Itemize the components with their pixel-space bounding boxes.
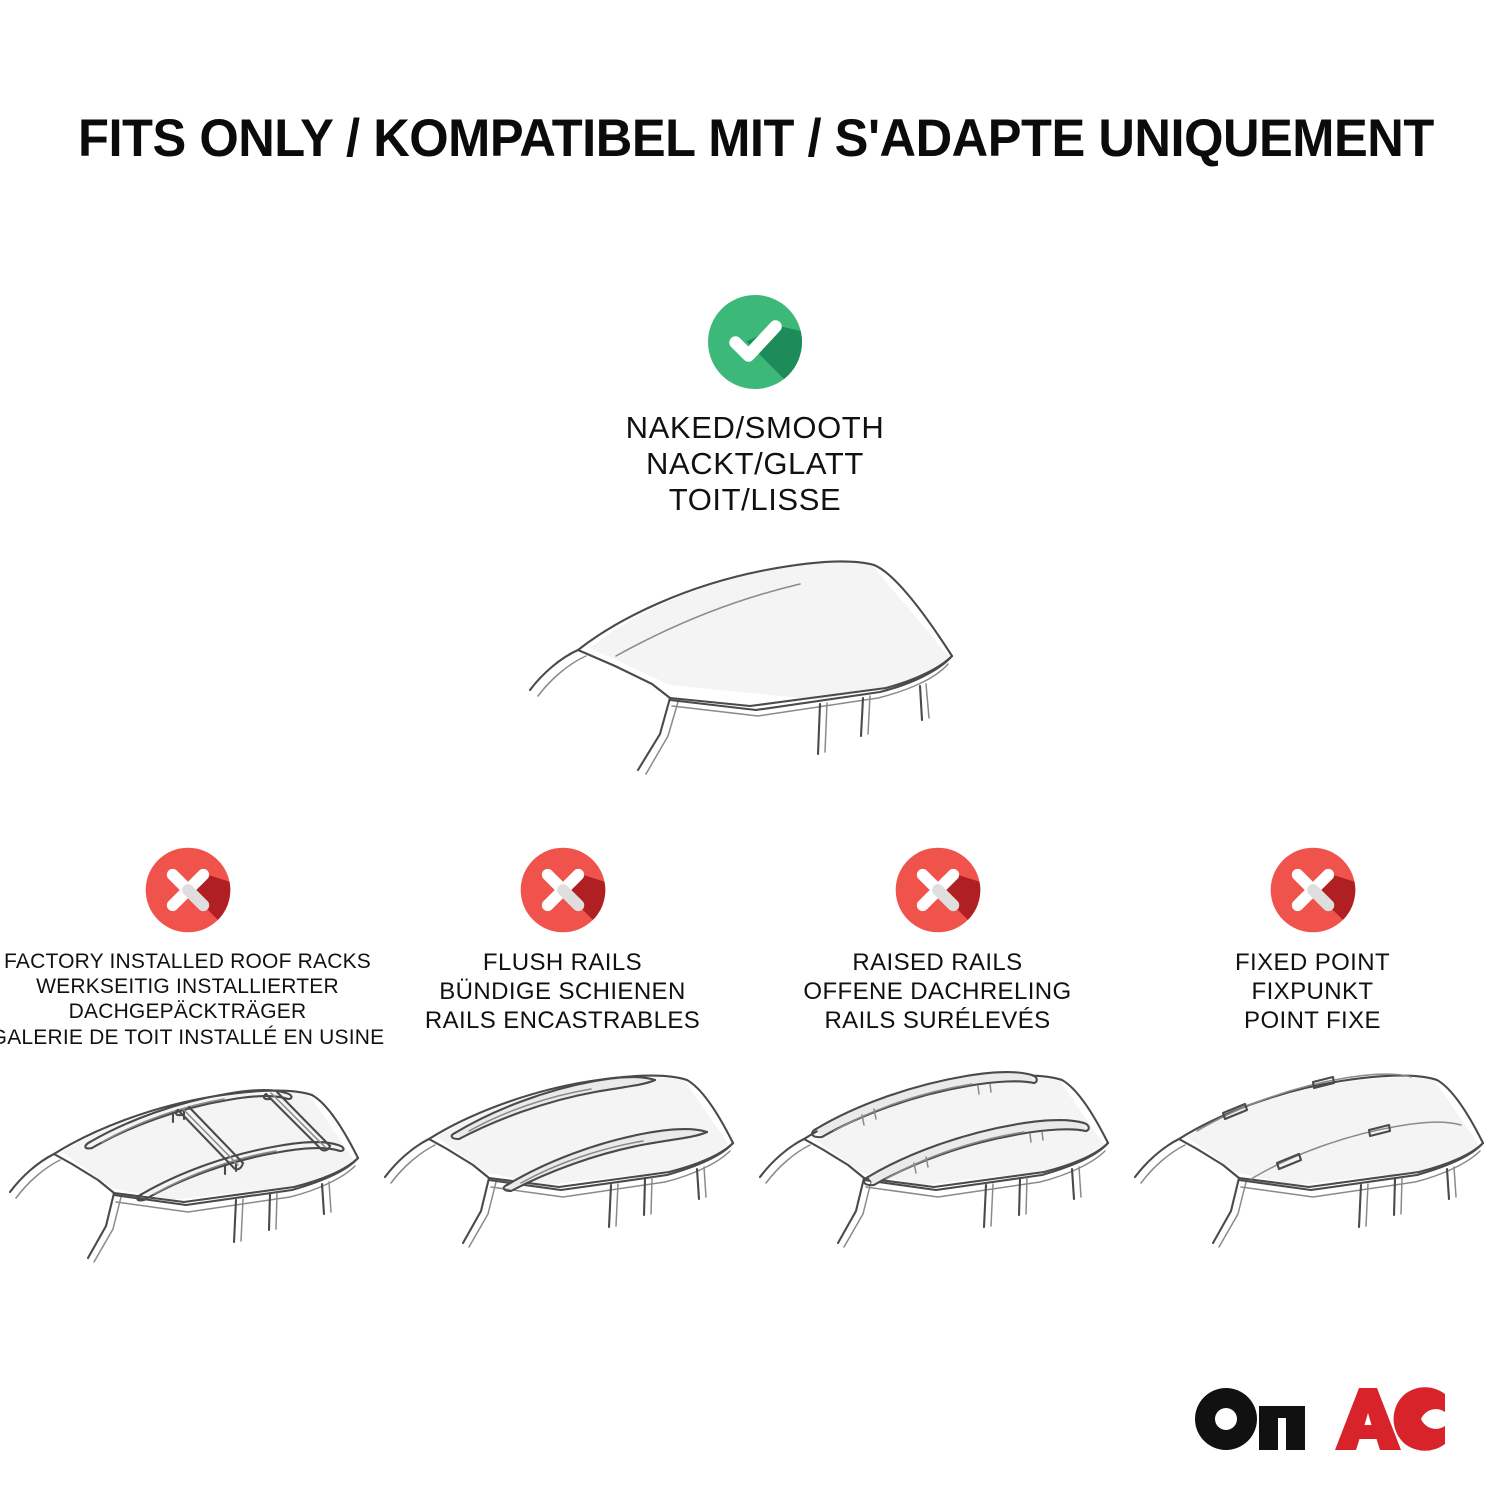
page-title: FITS ONLY / KOMPATIBEL MIT / S'ADAPTE UN… (78, 108, 1438, 168)
page-title-text: FITS ONLY / KOMPATIBEL MIT / S'ADAPTE UN… (78, 112, 1434, 165)
incompatible-item-flush-rails: FLUSH RAILS BÜNDIGE SCHIENEN RAILS ENCAS… (375, 845, 750, 1275)
incompatible-item-factory-installed-roof-racks: FACTORY INSTALLED ROOF RACKS WERKSEITIG … (0, 845, 375, 1275)
logo-letter-o (1195, 1388, 1257, 1450)
incompatible-2-label-fr: RAILS ENCASTRABLES (425, 1007, 700, 1036)
compatible-label-en: NAKED/SMOOTH (626, 410, 885, 446)
car-roof-raised-rails-illustration (752, 1045, 1124, 1260)
incompatible-labels-2: FLUSH RAILS BÜNDIGE SCHIENEN RAILS ENCAS… (425, 949, 700, 1035)
incompatible-item-raised-rails: RAISED RAILS OFFENE DACHRELING RAILS SUR… (750, 845, 1125, 1275)
incompatible-4-label-fr: POINT FIXE (1235, 1007, 1390, 1036)
logo-letter-a (1335, 1388, 1401, 1450)
car-roof-fixed-point-illustration (1127, 1045, 1499, 1260)
incompatible-3-label-de: OFFENE DACHRELING (803, 978, 1071, 1007)
incompatible-section: FACTORY INSTALLED ROOF RACKS WERKSEITIG … (0, 845, 1500, 1275)
omac-logo (1193, 1386, 1448, 1452)
incompatible-labels-4: FIXED POINT FIXPUNKT POINT FIXE (1235, 949, 1390, 1035)
incompatible-4-label-de: FIXPUNKT (1235, 978, 1390, 1007)
compatible-section: NAKED/SMOOTH NACKT/GLATT TOIT/LISSE (520, 292, 990, 788)
incompatible-4-label-en: FIXED POINT (1235, 949, 1390, 978)
compatible-label-fr: TOIT/LISSE (626, 482, 885, 518)
incompatible-labels-1: FACTORY INSTALLED ROOF RACKS WERKSEITIG … (0, 949, 384, 1050)
car-roof-naked-smooth-illustration (520, 538, 990, 788)
incompatible-1-label-fr: GALERIE DE TOIT INSTALLÉ EN USINE (0, 1025, 384, 1050)
incompatible-item-fixed-point: FIXED POINT FIXPUNKT POINT FIXE (1125, 845, 1500, 1275)
cross-circle-icon (893, 845, 983, 935)
compatible-labels: NAKED/SMOOTH NACKT/GLATT TOIT/LISSE (626, 410, 885, 518)
incompatible-2-label-de: BÜNDIGE SCHIENEN (425, 978, 700, 1007)
incompatible-1-label-de-2: DACHGEPÄCKTRÄGER (0, 999, 384, 1024)
compatible-label-de: NACKT/GLATT (626, 446, 885, 482)
incompatible-1-label-de-1: WERKSEITIG INSTALLIERTER (0, 974, 384, 999)
cross-circle-icon (518, 845, 608, 935)
incompatible-labels-3: RAISED RAILS OFFENE DACHRELING RAILS SUR… (803, 949, 1071, 1035)
car-roof-flush-rails-illustration (377, 1045, 749, 1260)
cross-circle-icon (1268, 845, 1358, 935)
logo-letter-c (1394, 1387, 1445, 1451)
cross-circle-icon (143, 845, 233, 935)
car-roof-factory-installed-racks-illustration (2, 1060, 374, 1275)
check-circle-icon (705, 292, 805, 392)
incompatible-2-label-en: FLUSH RAILS (425, 949, 700, 978)
incompatible-3-label-en: RAISED RAILS (803, 949, 1071, 978)
incompatible-1-label-en: FACTORY INSTALLED ROOF RACKS (0, 949, 384, 974)
incompatible-3-label-fr: RAILS SURÉLEVÉS (803, 1007, 1071, 1036)
